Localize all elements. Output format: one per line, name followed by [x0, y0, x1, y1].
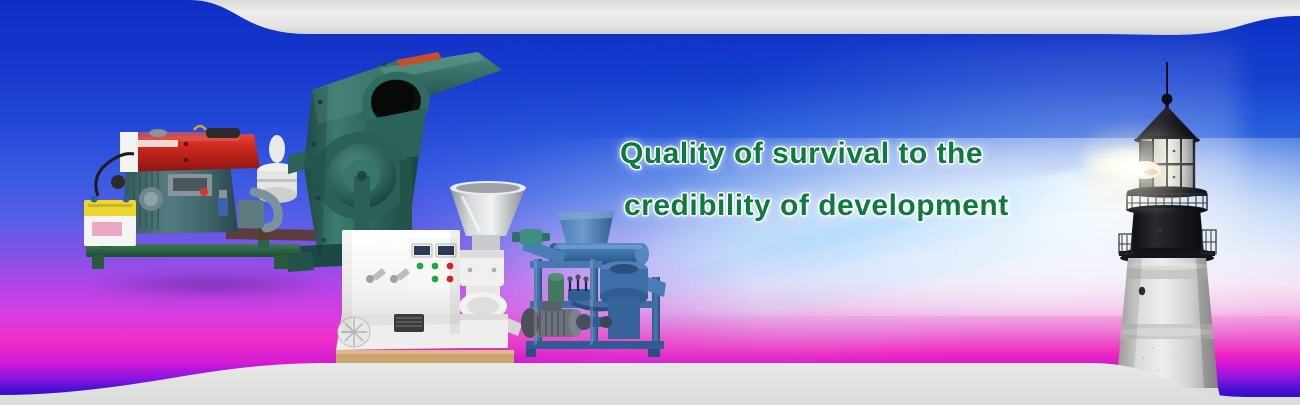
vent-grille — [394, 314, 424, 332]
feeder-motor — [512, 229, 550, 245]
valve-cover — [206, 128, 240, 138]
motor-junction-box — [542, 301, 562, 311]
tagline-line-2: credibility of development — [620, 180, 1090, 232]
wooden-pallet — [336, 350, 514, 372]
tagline: Quality of survival to the credibility o… — [620, 128, 1090, 232]
watch-room — [1130, 208, 1204, 254]
button-green-1 — [417, 263, 424, 270]
brand-plate — [136, 140, 178, 147]
lifting-eye — [194, 126, 206, 130]
pellet-mill — [330, 178, 535, 374]
promo-banner: Quality of survival to the credibility o… — [0, 0, 1300, 405]
pellet-outlet — [648, 277, 666, 297]
lighthouse-spire — [1162, 62, 1173, 108]
lantern-room — [1129, 139, 1195, 191]
lantern-roof — [1135, 106, 1199, 140]
button-green-3 — [432, 276, 439, 283]
lighthouse — [1098, 58, 1238, 405]
tagline-line-1: Quality of survival to the — [620, 128, 1090, 180]
fuel-knob — [200, 188, 208, 196]
button-green-2 — [432, 263, 439, 270]
fuel-filter — [218, 190, 228, 216]
lighthouse-base-rock — [1098, 386, 1222, 405]
starter-motor — [111, 175, 125, 189]
cover-badge-white — [120, 132, 138, 172]
manifold — [238, 200, 264, 228]
battery — [84, 196, 136, 247]
filler-cap — [149, 129, 167, 137]
frame-rail-bottom — [526, 341, 664, 349]
